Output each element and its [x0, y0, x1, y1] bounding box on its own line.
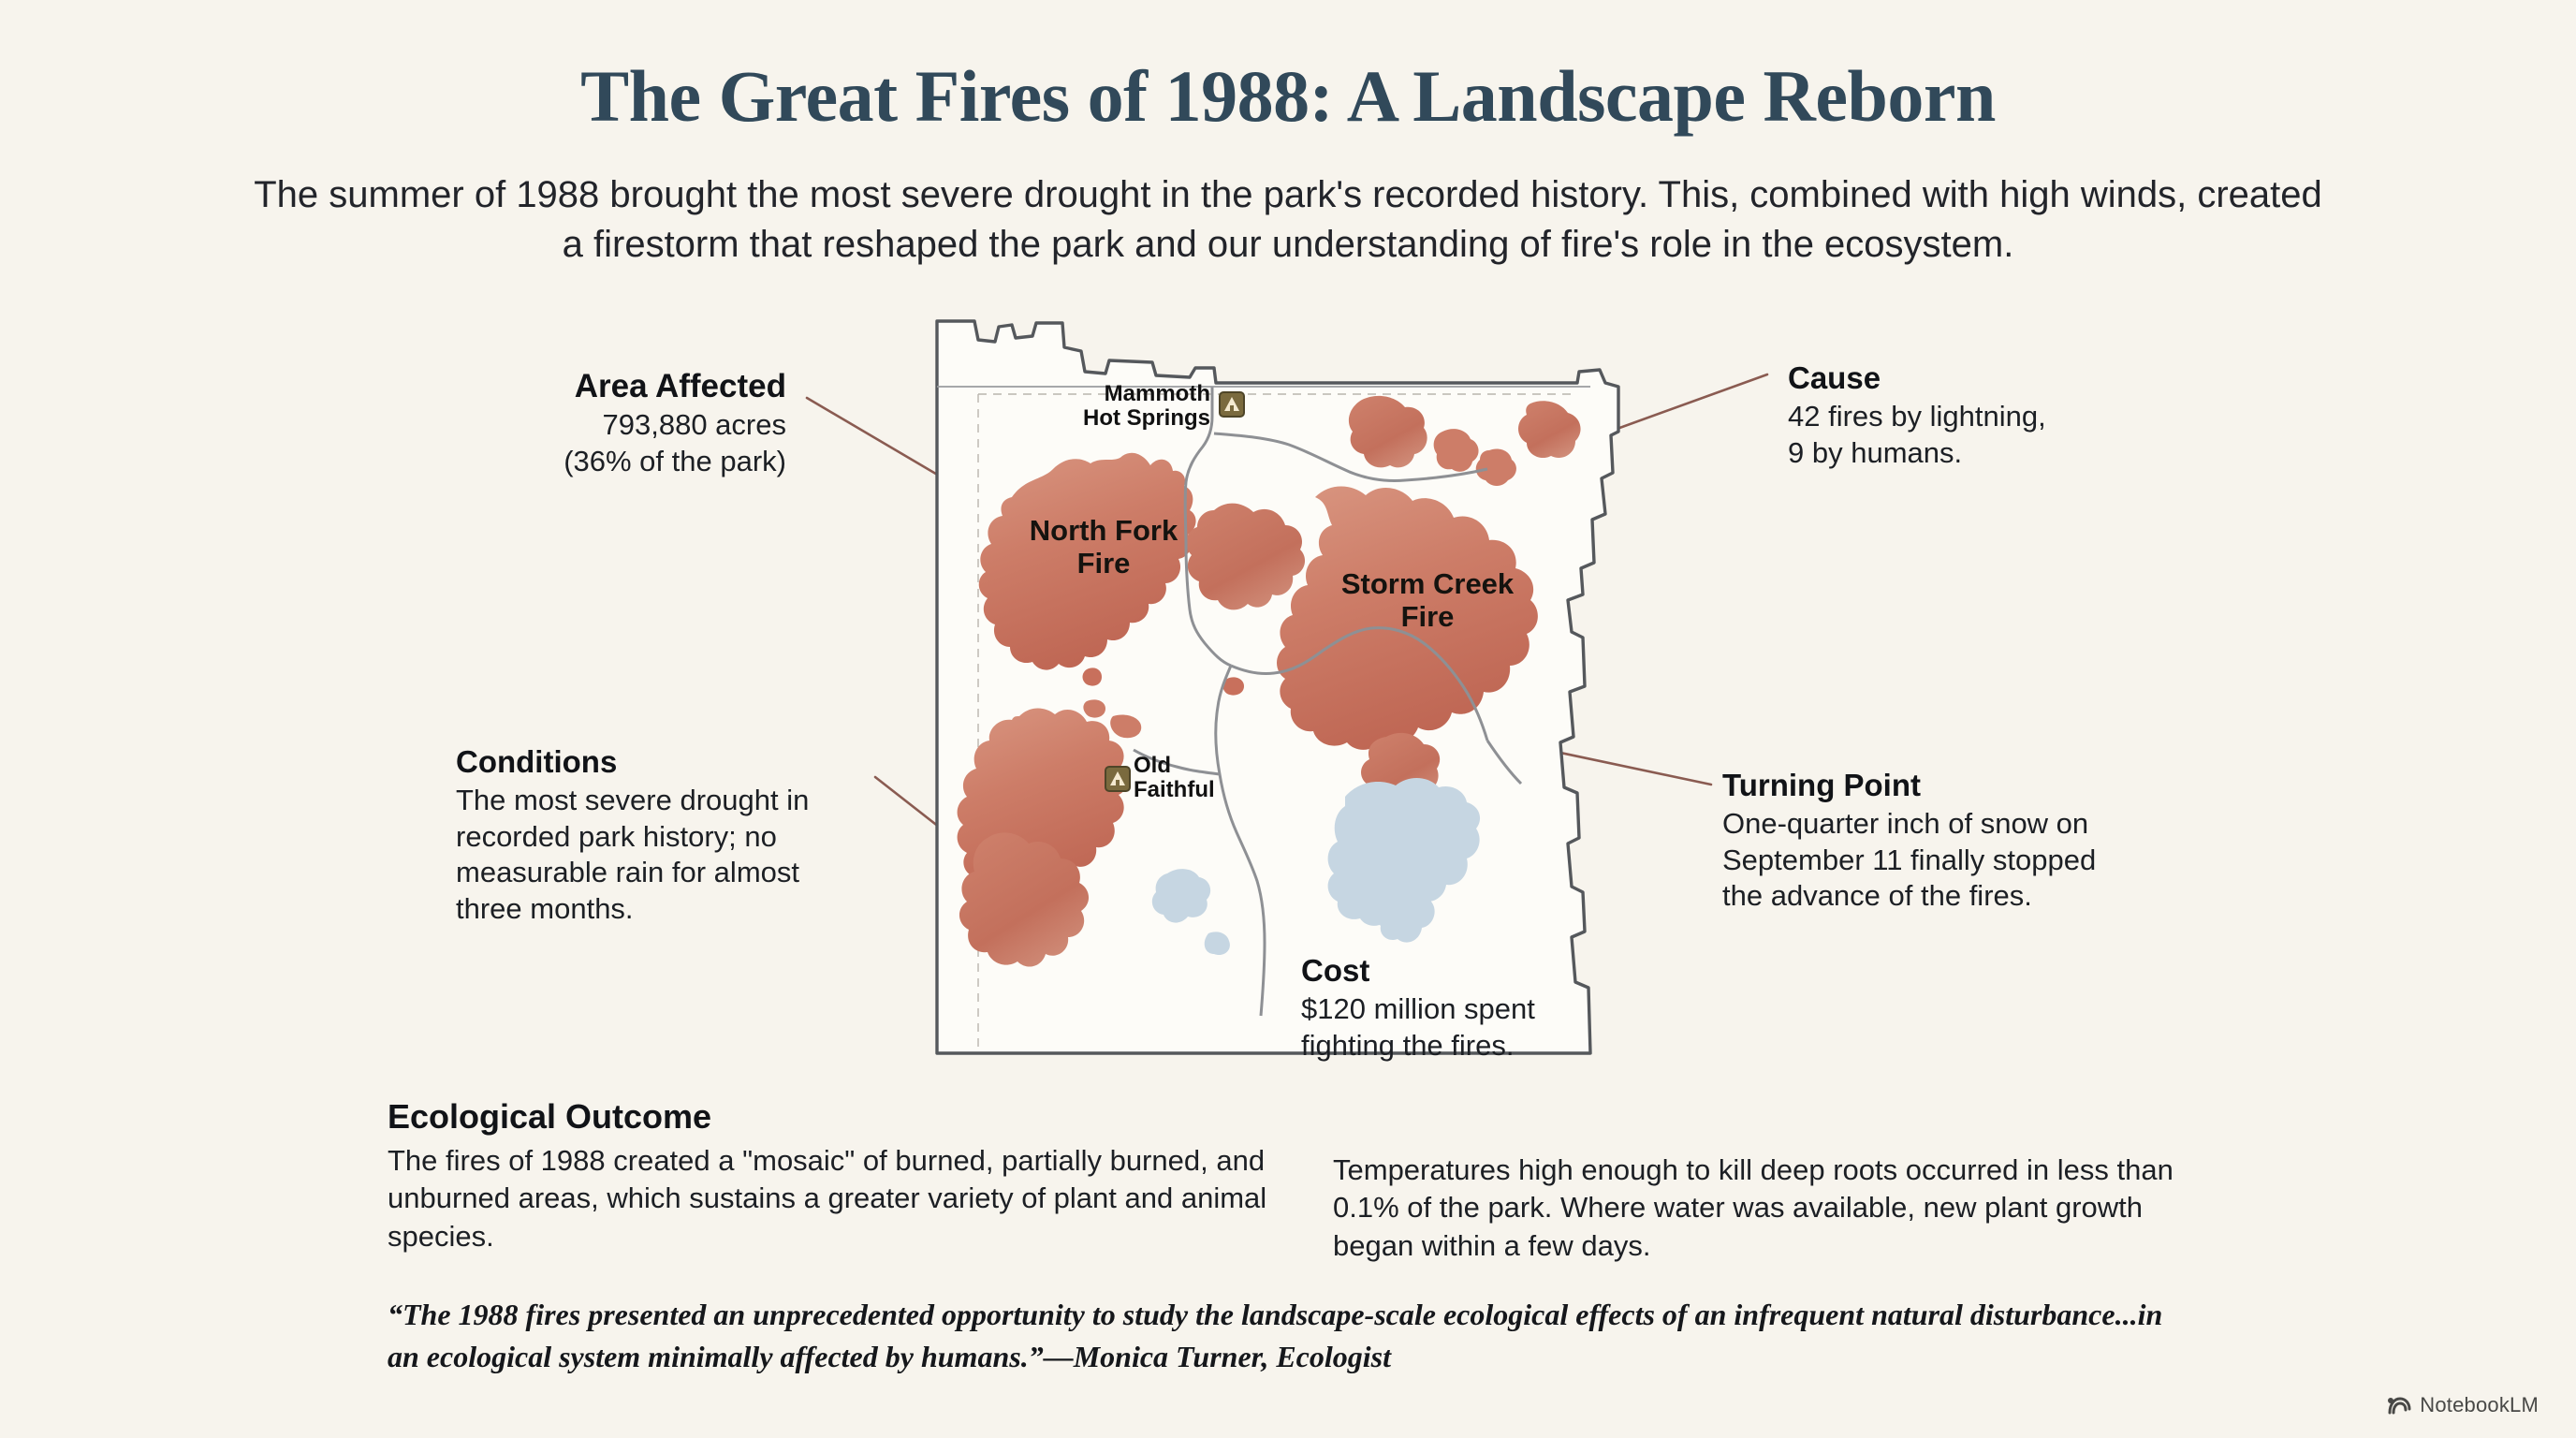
- annotation-turning-point-title: Turning Point: [1722, 768, 2134, 804]
- annotation-conditions-title: Conditions: [456, 744, 868, 781]
- annotation-cost: Cost $120 million spent fighting the fir…: [1301, 953, 1610, 1064]
- annotation-conditions: Conditions The most severe drought in re…: [456, 744, 868, 928]
- annotation-cause-line1: 42 fires by lightning,: [1788, 399, 2181, 435]
- map-label-old-faithful: Old Faithful: [1134, 754, 1215, 802]
- annotation-cost-title: Cost: [1301, 953, 1610, 990]
- annotation-conditions-body: The most severe drought in recorded park…: [456, 783, 868, 928]
- map-label-mammoth-hot-springs: Mammoth Hot Springs: [1032, 382, 1210, 431]
- pull-quote: “The 1988 fires presented an unprecedent…: [388, 1294, 2185, 1378]
- annotation-area-affected: Area Affected 793,880 acres (36% of the …: [487, 367, 786, 480]
- annotation-turning-point: Turning Point One-quarter inch of snow o…: [1722, 768, 2134, 915]
- annotation-turning-point-body: One-quarter inch of snow on September 11…: [1722, 806, 2134, 915]
- annotation-area-affected-line1: 793,880 acres: [487, 407, 786, 444]
- ecological-outcome-heading: Ecological Outcome: [388, 1097, 1267, 1137]
- annotation-cause-line2: 9 by humans.: [1788, 435, 2181, 472]
- map-label-north-fork-fire: North Fork Fire: [1001, 515, 1207, 580]
- notebooklm-watermark: NotebookLM: [2387, 1393, 2539, 1417]
- annotation-area-affected-line2: (36% of the park): [487, 444, 786, 480]
- annotation-cost-line1: $120 million spent: [1301, 991, 1610, 1028]
- notebooklm-logo-icon: [2387, 1395, 2411, 1416]
- annotation-cost-line2: fighting the fires.: [1301, 1028, 1610, 1064]
- annotation-area-affected-title: Area Affected: [487, 367, 786, 405]
- map-marker-mammoth[interactable]: [1220, 392, 1244, 417]
- annotation-cause-title: Cause: [1788, 360, 2181, 397]
- infographic-canvas: The Great Fires of 1988: A Landscape Reb…: [0, 0, 2576, 1438]
- map-marker-old-faithful[interactable]: [1105, 767, 1130, 791]
- page-title: The Great Fires of 1988: A Landscape Reb…: [0, 54, 2576, 139]
- notebooklm-watermark-label: NotebookLM: [2420, 1393, 2539, 1417]
- ecological-outcome-column-1: The fires of 1988 created a "mosaic" of …: [388, 1142, 1267, 1255]
- burn-area-north-fork-satellite: [1083, 668, 1103, 685]
- page-subtitle: The summer of 1988 brought the most seve…: [240, 170, 2336, 270]
- ecological-outcome-block: Ecological Outcome The fires of 1988 cre…: [388, 1097, 1267, 1255]
- ecological-outcome-column-2: Temperatures high enough to kill deep ro…: [1333, 1152, 2185, 1265]
- annotation-cause: Cause 42 fires by lightning, 9 by humans…: [1788, 360, 2181, 471]
- map-label-storm-creek-fire: Storm Creek Fire: [1306, 568, 1549, 633]
